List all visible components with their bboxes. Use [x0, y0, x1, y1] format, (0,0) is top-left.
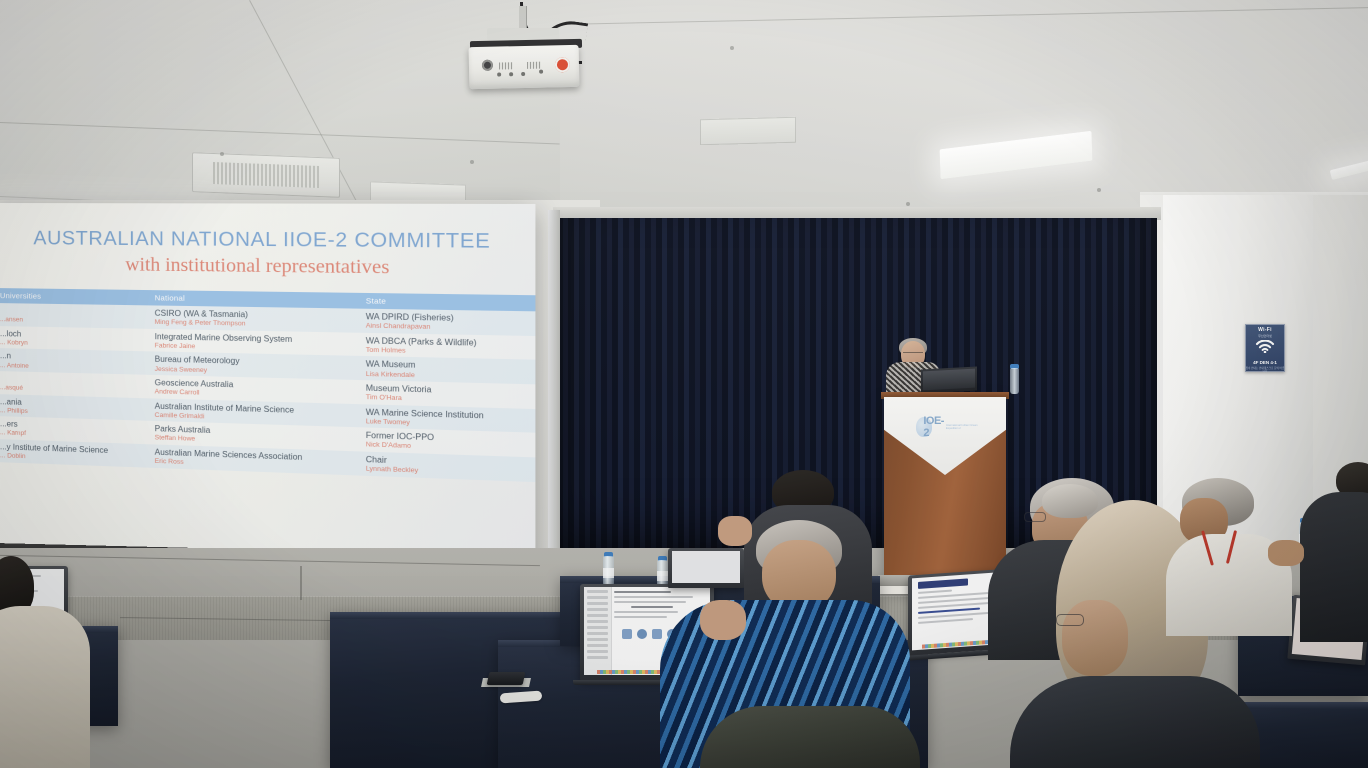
person-torso — [0, 606, 90, 768]
slide-surface: AUSTRALIAN NATIONAL IIOE-2 COMMITTEE wit… — [0, 203, 535, 578]
bottle-label — [657, 571, 668, 581]
slide-subtitle: with institutional representatives — [0, 253, 535, 281]
person-torso — [1300, 492, 1368, 642]
ceiling-panel — [700, 117, 796, 146]
projector-vent — [527, 62, 541, 69]
iioe2-logo: IOE-2 International Indian Ocean Expedit… — [916, 414, 978, 440]
laptop-lid — [668, 548, 744, 588]
water-bottle — [603, 556, 614, 586]
slide-cell-state: WA DPIRD (Fisheries)Ainsl Chandrapavan — [359, 309, 535, 336]
podium-laptop-screen — [923, 369, 975, 391]
person-torso — [1010, 676, 1260, 768]
slide-cell-universities: ...loch... Kobryn — [0, 326, 148, 352]
ceiling-fixture-dot — [1097, 188, 1101, 192]
ceiling-fixture-dot — [220, 152, 224, 156]
wifi-info-sign: Wi-Fi 무선인터넷 4F DEN 4-1 접속 안내는 안내데스크로 문의 … — [1245, 324, 1285, 372]
slide-cell-state: ChairLynnath Beckley — [359, 451, 535, 481]
ceiling-fixture-dot — [730, 46, 734, 50]
projector — [469, 45, 580, 89]
wifi-icon — [1255, 340, 1275, 358]
smartphone[interactable] — [487, 672, 526, 685]
projector-lens-icon — [482, 60, 493, 71]
laptop-sidebar — [584, 587, 612, 675]
ceiling-right-section — [560, 0, 1368, 212]
person-head — [1062, 600, 1128, 676]
laptop-screen — [672, 551, 740, 583]
wifi-sign-footer: 접속 안내는 안내데스크로 문의 바랍니다 — [1245, 367, 1285, 373]
projection-screen: AUSTRALIAN NATIONAL IIOE-2 COMMITTEE wit… — [0, 203, 535, 578]
projector-warning-sticker — [555, 57, 570, 72]
slide-table: Universities National State ...ansenCSIR… — [0, 288, 535, 482]
slide-title: AUSTRALIAN NATIONAL IIOE-2 COMMITTEE — [0, 227, 535, 254]
person-torso — [700, 706, 920, 768]
person-hand — [700, 600, 746, 640]
podium-laptop[interactable] — [921, 367, 977, 394]
projector-button[interactable] — [539, 70, 543, 74]
representative-name: Ainsl Chandrapavan — [366, 323, 529, 334]
conference-room-photo: Wi-Fi 무선인터넷 4F DEN 4-1 접속 안내는 안내데스크로 문의 … — [0, 0, 1368, 768]
projector-mount-plate — [487, 28, 559, 40]
person-hand — [718, 516, 752, 546]
wifi-network-name: 4F DEN 4-1 — [1253, 360, 1277, 365]
person-hand — [1268, 540, 1304, 566]
laptop-dock — [922, 639, 999, 648]
audience-laptop-back[interactable] — [668, 548, 744, 588]
projector-button[interactable] — [521, 72, 525, 76]
stage-step-edge — [300, 566, 302, 600]
logo-tagline: International Indian Ocean Expedition 2 — [946, 424, 978, 431]
eyeglasses-icon — [1024, 512, 1046, 522]
water-bottle — [1010, 368, 1019, 394]
screen-side-frame — [548, 210, 560, 570]
representative-name: ... Kobryn — [0, 339, 142, 350]
eyeglasses-icon — [1056, 614, 1084, 626]
ceiling-fixture-dot — [906, 202, 910, 206]
bottle-label — [603, 568, 614, 578]
hvac-vent — [192, 152, 340, 198]
slide-cell-universities: ...ansen — [0, 303, 148, 329]
wifi-sign-title: Wi-Fi — [1258, 327, 1272, 333]
projector-button[interactable] — [497, 72, 501, 76]
speaker-glasses — [903, 352, 923, 357]
person-hair — [1042, 484, 1098, 518]
slide-cell-universities: ...y Institute of Marine Science... Dobl… — [0, 439, 148, 467]
vent-grille — [213, 162, 320, 188]
projector-vent — [499, 62, 513, 69]
logo-text: IOE-2 — [923, 415, 944, 439]
wifi-sign-subtitle: 무선인터넷 — [1258, 334, 1272, 338]
representative-name: ...ansen — [0, 316, 142, 326]
ceiling-fixture-dot — [470, 160, 474, 164]
projector-button[interactable] — [509, 72, 513, 76]
table-edge — [330, 612, 580, 619]
